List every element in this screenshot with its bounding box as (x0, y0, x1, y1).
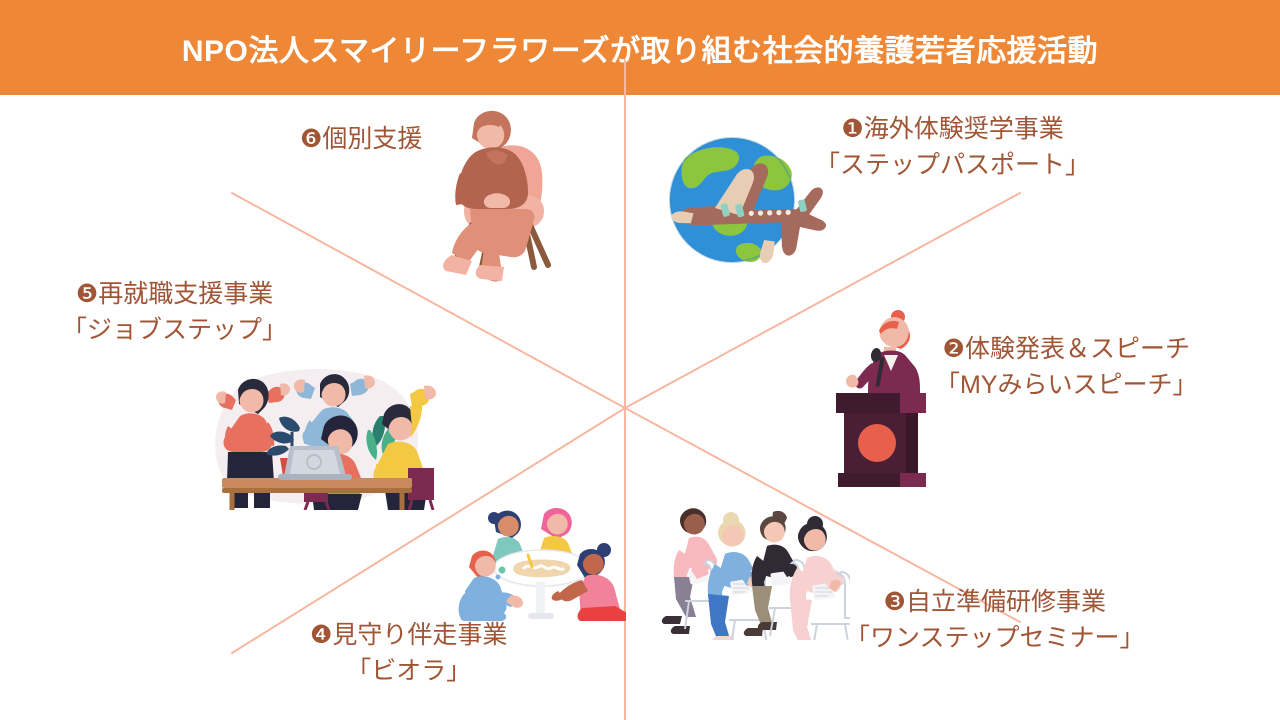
seminar-group-icon (645, 498, 850, 640)
item-3-subtitle: 「ワンステップセミナー」 (845, 621, 1145, 657)
cheering-office-team-icon (208, 368, 440, 510)
item-5-subtitle: 「ジョブステップ」 (62, 313, 287, 349)
item-2-subtitle: 「MYみらいスピーチ」 (935, 368, 1198, 404)
item-2-label: ❷体験発表＆スピーチ 「MYみらいスピーチ」 (935, 332, 1198, 403)
item-5-title-line: ❺再就職支援事業 (62, 277, 287, 313)
item-4-subtitle: 「ビオラ」 (310, 654, 507, 690)
podium-speaker-icon (822, 305, 942, 490)
item-4-title-line: ❹見守り伴走事業 (310, 618, 507, 654)
globe-airplane-icon (655, 112, 840, 272)
item-3-title-line: ❸自立準備研修事業 (845, 585, 1145, 621)
item-6-title-line: ❻個別支援 (300, 122, 422, 158)
table-activity-group-icon (458, 498, 626, 622)
item-2-title-line: ❷体験発表＆スピーチ (935, 332, 1198, 368)
item-6-label: ❻個別支援 (300, 122, 422, 158)
item-1-label: ❶海外体験奨学事業 「ステップパスポート」 (815, 112, 1090, 183)
item-1-title-line: ❶海外体験奨学事業 (815, 112, 1090, 148)
item-5-label: ❺再就職支援事業 「ジョブステップ」 (62, 277, 287, 348)
slide-root: NPO法人スマイリーフラワーズが取り組む社会的養護若者応援活動 (0, 0, 1280, 720)
seated-person-armchair-icon (430, 105, 558, 283)
item-4-label: ❹見守り伴走事業 「ビオラ」 (310, 618, 507, 689)
item-3-label: ❸自立準備研修事業 「ワンステップセミナー」 (845, 585, 1145, 656)
item-1-subtitle: 「ステップパスポート」 (815, 148, 1090, 184)
